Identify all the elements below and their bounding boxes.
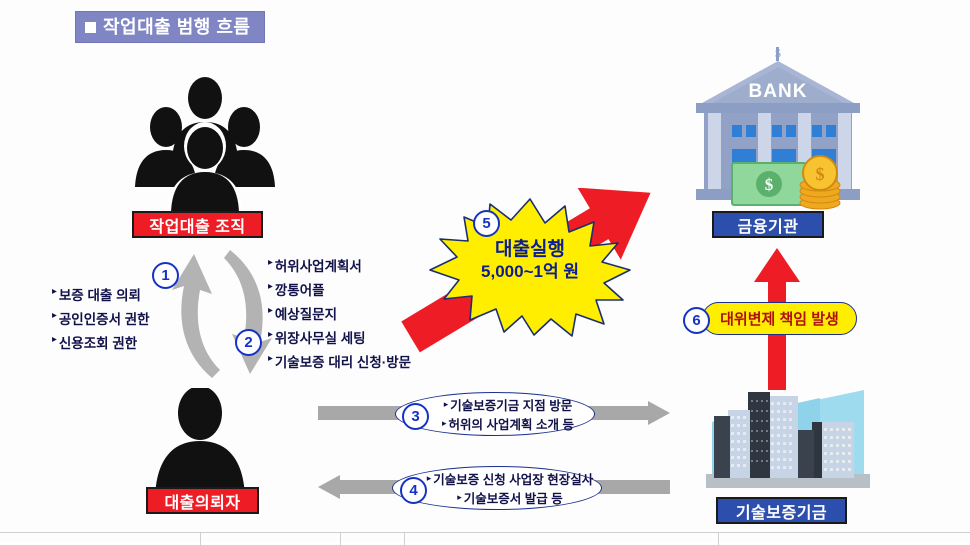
svg-text:$: $ <box>816 164 825 184</box>
step-marker-5: 5 <box>473 210 500 237</box>
burst-line-1: 대출실행 <box>448 239 612 262</box>
center-bullet-item: 기술보증 대리 신청·방문 <box>268 351 411 375</box>
diagram-canvas: 작업대출 범행 흐름 <box>0 0 970 542</box>
crime-org-label-text: 작업대출 조직 <box>149 213 245 237</box>
step-marker-1: 1 <box>152 262 179 289</box>
step-6-number: 6 <box>692 313 700 328</box>
sheet-cell-tick <box>404 533 405 545</box>
sheet-cell-tick <box>718 533 719 545</box>
node-label-crime-org: 작업대출 조직 <box>132 211 263 238</box>
step-3-line: 기술보증기금 지점 방문 <box>444 395 572 414</box>
svg-text:$: $ <box>775 46 781 60</box>
step-1-number: 1 <box>161 268 169 283</box>
bank-label-text: 금융기관 <box>738 213 799 237</box>
filled-square-icon <box>85 22 96 33</box>
svg-text:$: $ <box>765 175 774 194</box>
header-banner: 작업대출 범행 흐름 <box>75 11 265 43</box>
people-group-icon <box>125 72 285 212</box>
bank-building-icon: $ BANK <box>688 45 868 210</box>
sheet-cell-tick <box>340 533 341 545</box>
step-4-line: 기술보증 신청 사업장 현장실사 <box>427 469 593 488</box>
node-label-borrower: 대출의뢰자 <box>146 487 259 514</box>
burst-text-group: 대출실행 5,000~1억 원 <box>448 239 612 282</box>
left-bullet-list: 보증 대출 의뢰 공인인증서 권한 신용조회 권한 <box>52 284 150 356</box>
step-marker-2: 2 <box>235 329 262 356</box>
step-6-text: 대위변제 책임 발생 <box>720 308 839 329</box>
guarantee-fund-label-text: 기술보증기금 <box>736 499 827 523</box>
borrower-label-text: 대출의뢰자 <box>164 489 240 513</box>
left-bullet-item: 공인인증서 권한 <box>52 308 150 332</box>
step-marker-3: 3 <box>402 403 429 430</box>
step-2-number: 2 <box>244 335 252 350</box>
svg-text:BANK: BANK <box>749 81 808 102</box>
sheet-cell-tick <box>200 533 201 545</box>
callout-step-6: 대위변제 책임 발생 <box>702 302 857 335</box>
office-buildings-icon <box>700 378 876 508</box>
person-silhouette-icon <box>140 388 260 498</box>
step-marker-6: 6 <box>683 307 710 334</box>
left-bullet-item: 보증 대출 의뢰 <box>52 284 150 308</box>
burst-line-2: 5,000~1억 원 <box>448 262 612 282</box>
step-marker-4: 4 <box>400 477 427 504</box>
left-bullet-item: 신용조회 권한 <box>52 332 150 356</box>
node-label-guarantee-fund: 기술보증기금 <box>716 497 847 524</box>
step-3-line: 허위의 사업계획 소개 등 <box>442 414 574 433</box>
sheet-divider <box>0 532 970 533</box>
step-3-number: 3 <box>411 409 419 424</box>
cycle-arrows-group <box>168 246 278 382</box>
step-4-number: 4 <box>409 483 417 498</box>
page-title: 작업대출 범행 흐름 <box>103 18 250 36</box>
node-label-bank: 금융기관 <box>712 211 824 238</box>
step-4-line: 기술보증서 발급 등 <box>457 488 562 507</box>
step-5-number: 5 <box>482 216 490 231</box>
